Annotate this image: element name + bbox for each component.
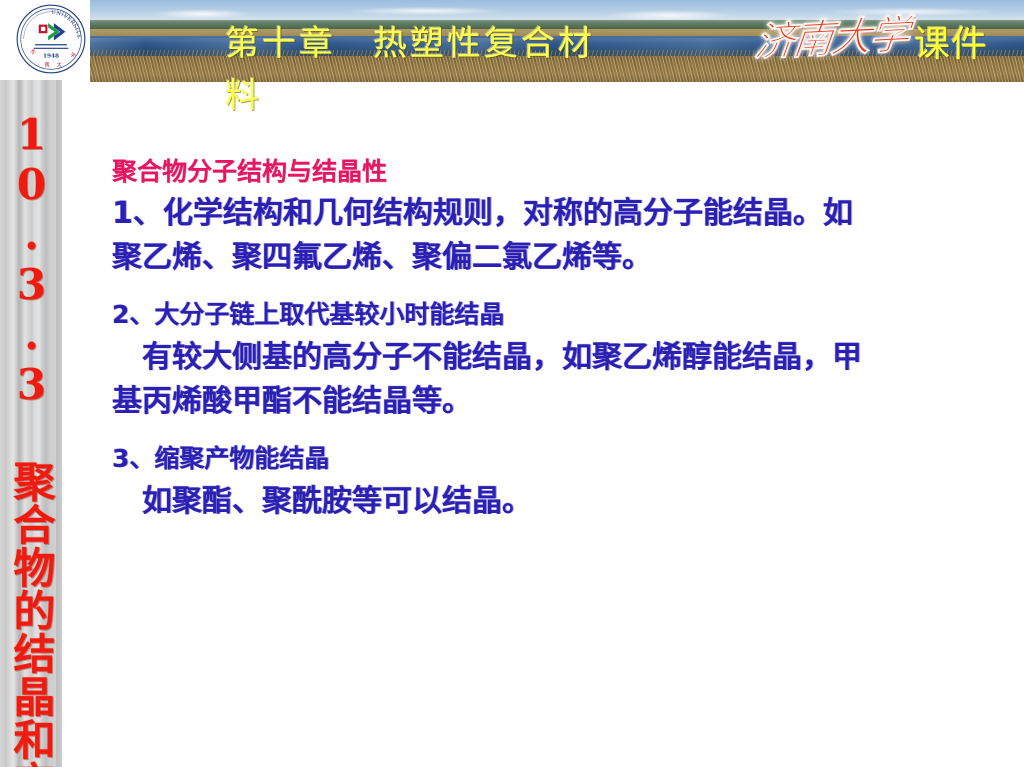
slide-canvas: 10.3.3 聚合物的结晶和定向 UNIVERSITY OF JINAN bbox=[0, 0, 1024, 767]
content-line: 聚乙烯、聚四氟乙烯、聚偏二氯乙烯等。 bbox=[112, 236, 1012, 280]
content-line: 基丙烯酸甲酯不能结晶等。 bbox=[112, 380, 1012, 424]
content-block-1: 聚合物分子结构与结晶性 1、化学结构和几何结构规则，对称的高分子能结晶。如 聚乙… bbox=[112, 152, 1012, 280]
slide-title-line-2: 料 bbox=[225, 70, 745, 122]
courseware-label: 课件 bbox=[914, 15, 988, 67]
content-line: 如聚酯、聚酰胺等可以结晶。 bbox=[112, 480, 1012, 524]
svg-text:大: 大 bbox=[57, 61, 62, 68]
svg-text:1948: 1948 bbox=[43, 54, 59, 60]
content-heading: 聚合物分子结构与结晶性 bbox=[112, 152, 1012, 192]
sidebar-section-label: 10.3.3 聚合物的结晶和定向 bbox=[8, 110, 54, 670]
content-line: 有较大侧基的高分子不能结晶，如聚乙烯醇能结晶，甲 bbox=[112, 336, 1012, 380]
content-line: 2、大分子链上取代基较小时能结晶 bbox=[112, 294, 1012, 336]
university-seal-icon: UNIVERSITY OF JINAN 1948 济 学 南 大 bbox=[15, 3, 87, 75]
slide-title-line-1: 第十章 热塑性复合材 bbox=[225, 18, 745, 70]
university-name-calligraphy: 济南大学 bbox=[752, 2, 911, 68]
courseware-brand: 济南大学 课件 bbox=[752, 10, 988, 68]
sidebar-section-label-container: 10.3.3 聚合物的结晶和定向 bbox=[0, 110, 62, 670]
slide-title: 第十章 热塑性复合材 料 bbox=[225, 18, 745, 122]
slide-body-content: 聚合物分子结构与结晶性 1、化学结构和几何结构规则，对称的高分子能结晶。如 聚乙… bbox=[112, 152, 1012, 538]
university-logo-box: UNIVERSITY OF JINAN 1948 济 学 南 大 bbox=[10, 0, 90, 80]
content-block-2: 2、大分子链上取代基较小时能结晶 有较大侧基的高分子不能结晶，如聚乙烯醇能结晶，… bbox=[112, 294, 1012, 424]
svg-text:南: 南 bbox=[45, 61, 50, 68]
content-line: 3、缩聚产物能结晶 bbox=[112, 438, 1012, 480]
content-line: 1、化学结构和几何结构规则，对称的高分子能结晶。如 bbox=[112, 192, 1012, 236]
content-block-3: 3、缩聚产物能结晶 如聚酯、聚酰胺等可以结晶。 bbox=[112, 438, 1012, 524]
